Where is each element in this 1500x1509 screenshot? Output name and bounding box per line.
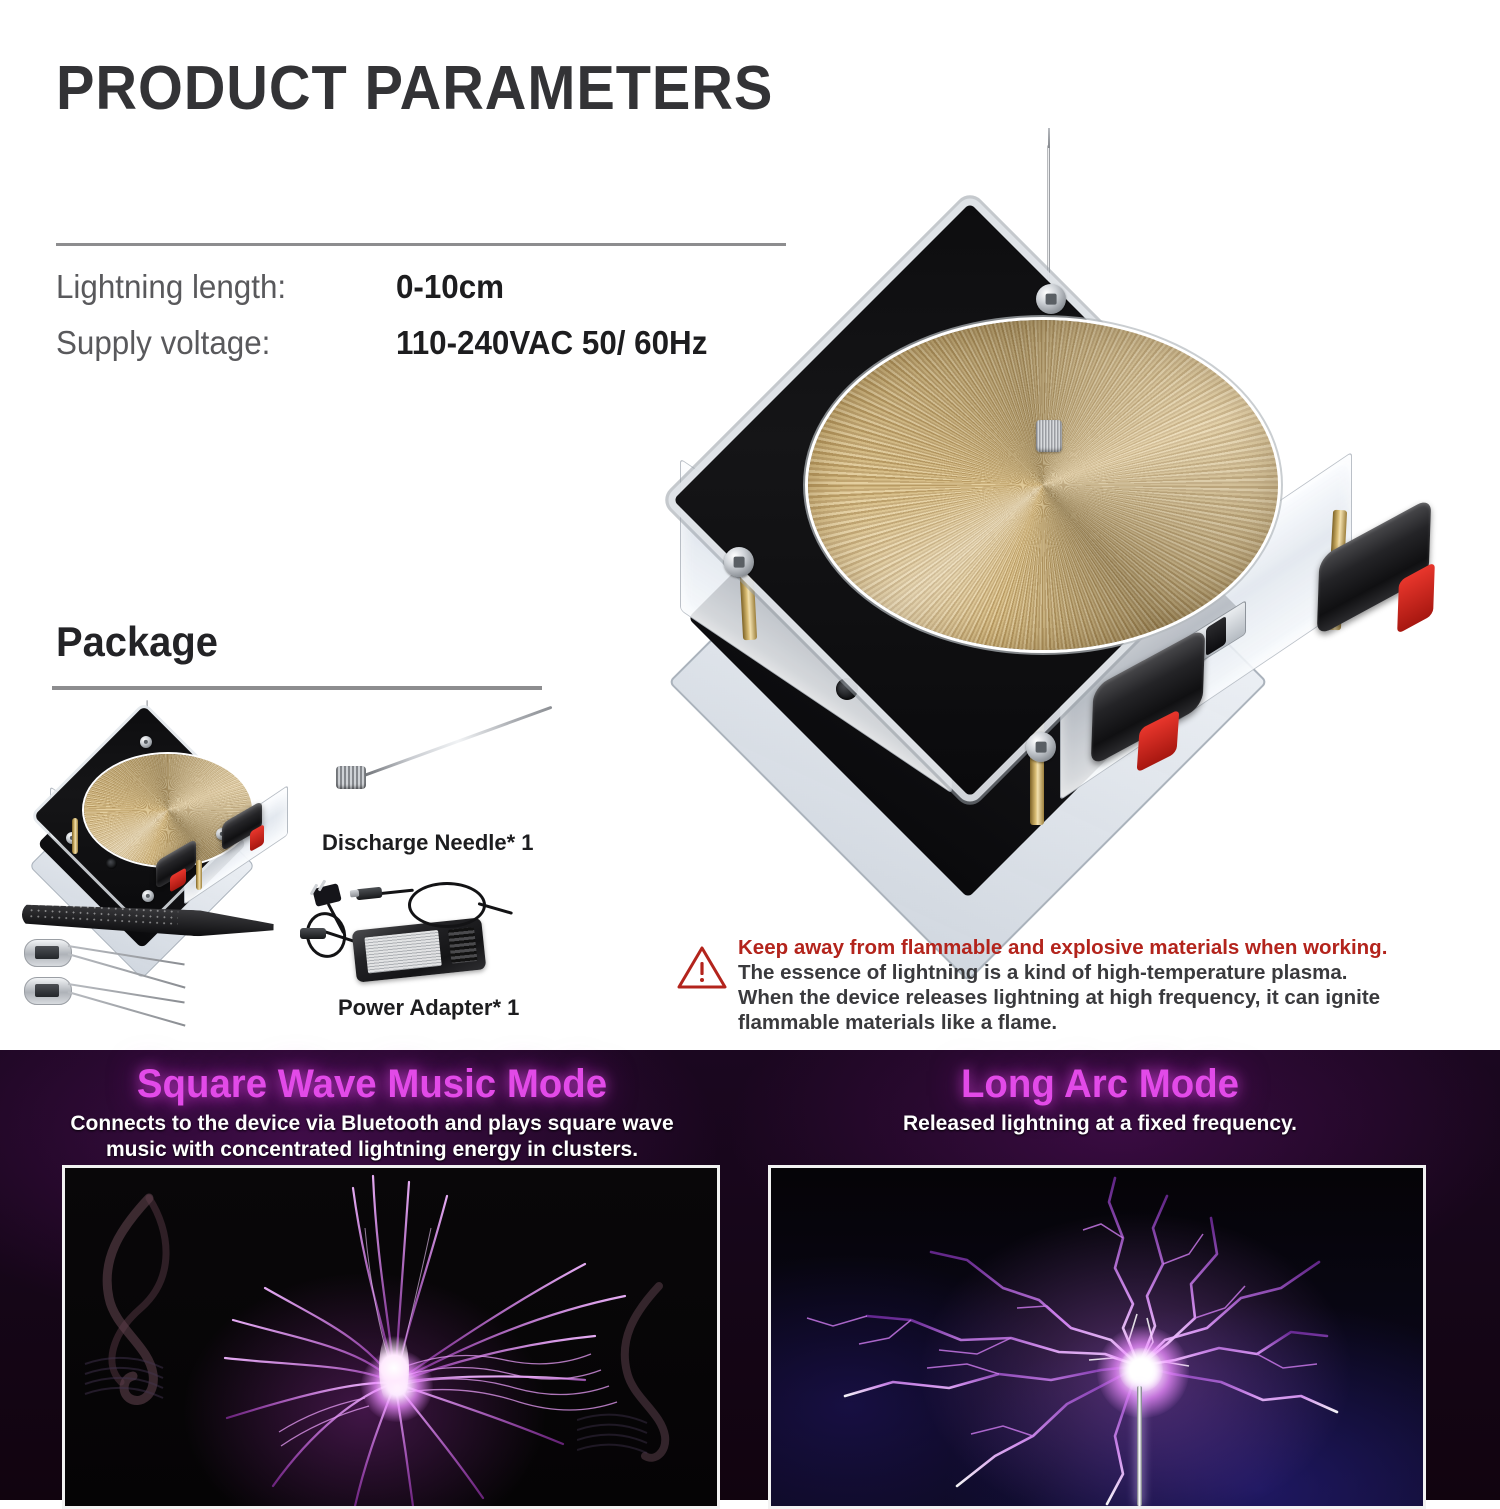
warning-line: flammable materials like a flame. [738, 1010, 1376, 1035]
adapter-brick-icon [352, 917, 487, 982]
discharge-needle-icon [1137, 1386, 1142, 1506]
spec-label-lightning-length: Lightning length: [56, 268, 379, 306]
tesla-coil-device-hero-image [640, 120, 1480, 900]
warning-line: The essence of lightning is a kind of hi… [738, 960, 1376, 985]
brass-standoff [196, 860, 202, 890]
bulb-lead-wire [68, 953, 186, 988]
corner-screw[interactable] [1036, 284, 1066, 314]
adapter-spec-label [364, 930, 441, 974]
brass-discharge-disc [84, 754, 252, 866]
long-arc-photo [768, 1165, 1426, 1509]
corner-screw [140, 736, 152, 748]
warning-triangle-icon [676, 943, 728, 991]
package-item-device-thumbnail [44, 700, 294, 840]
top-white-section: PRODUCT PARAMETERS Lightning length: 0-1… [0, 0, 1500, 1050]
warning-line: When the device releases lightning at hi… [738, 985, 1376, 1010]
product-parameters-page: PRODUCT PARAMETERS Lightning length: 0-1… [0, 0, 1500, 1500]
mode-subtitle-line: Connects to the device via Bluetooth and… [62, 1111, 682, 1137]
spec-value-lightning-length: 0-10cm [396, 268, 504, 306]
brass-discharge-disc [808, 320, 1278, 650]
dc-barrel-plug-icon [355, 887, 382, 901]
corner-screw[interactable] [1026, 732, 1056, 762]
mode-header-square-wave-music: Square Wave Music Mode Connects to the d… [62, 1062, 682, 1163]
package-item-discharge-needle [330, 730, 560, 825]
needle-rod-icon [363, 706, 552, 777]
mode-header-long-arc: Long Arc Mode Released lightning at a fi… [770, 1062, 1430, 1137]
package-item-tweezers [22, 895, 292, 935]
dc-barrel-plug-icon [300, 928, 326, 939]
package-caption-discharge-needle: Discharge Needle* 1 [322, 830, 534, 856]
warning-line-primary: Keep away from flammable and explosive m… [738, 935, 1376, 960]
needle-knurl-icon [336, 766, 366, 789]
dc-cable-loop [408, 882, 486, 928]
square-wave-music-photo [62, 1165, 720, 1509]
needle-collar-icon [1036, 420, 1062, 452]
bulb-lead-wire [68, 991, 186, 1026]
dc-barrel-tip [350, 890, 360, 898]
bulb-lead-wire [68, 945, 185, 965]
dc-power-jack [106, 858, 117, 869]
neon-bulb-icon [24, 939, 72, 967]
neon-bulb-icon [24, 977, 72, 1005]
package-caption-power-adapter: Power Adapter* 1 [338, 995, 519, 1021]
plasma-core-streak [379, 1328, 409, 1408]
package-item-neon-bulbs [22, 935, 202, 1020]
mode-subtitle-line: music with concentrated lightning energy… [62, 1137, 682, 1163]
mode-subtitle-line: Released lightning at a fixed frequency. [770, 1111, 1430, 1137]
mode-title: Long Arc Mode [783, 1062, 1417, 1106]
bulb-lead-wire [68, 983, 185, 1003]
needle-tip-icon [1048, 128, 1050, 148]
page-title: PRODUCT PARAMETERS [56, 56, 773, 122]
lightning-arcs [771, 1168, 1423, 1506]
package-divider [52, 686, 542, 690]
mode-title: Square Wave Music Mode [74, 1062, 669, 1106]
safety-warning-block: Keep away from flammable and explosive m… [676, 935, 1376, 1035]
package-item-power-adapter [300, 872, 530, 990]
spec-label-supply-voltage: Supply voltage: [56, 324, 379, 362]
adapter-vents [448, 927, 477, 964]
corner-screw[interactable] [724, 547, 754, 577]
package-section-title: Package [56, 618, 218, 666]
brass-standoff [72, 818, 78, 854]
